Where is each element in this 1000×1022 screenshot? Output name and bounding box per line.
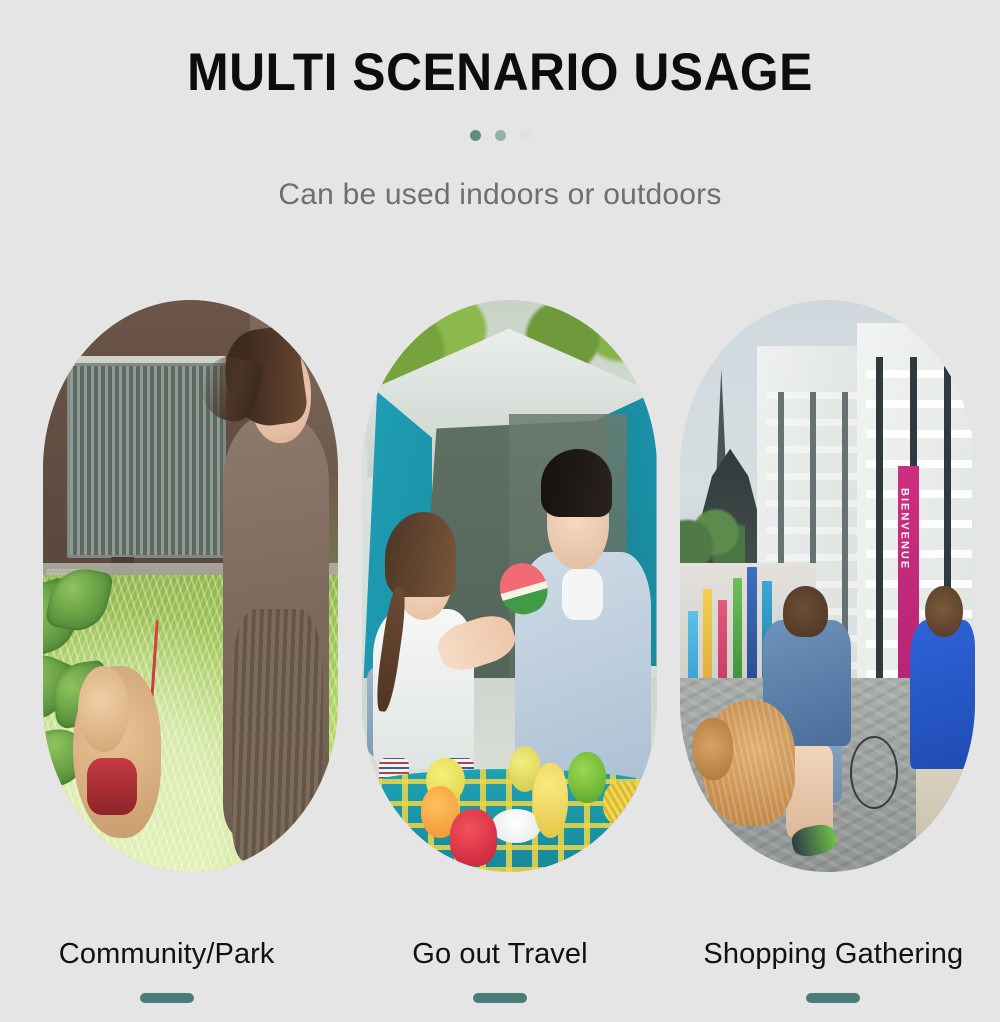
fruit-corn [603,781,644,827]
caption-label-community-park: Community/Park [0,938,333,971]
girl-hair [385,512,456,598]
dot-active[interactable] [470,130,481,141]
man-head [783,586,827,637]
underline-bar-shopping-gathering [806,993,860,1003]
dot-indicator [0,130,1000,141]
pedestrian-head [925,586,963,637]
scenario-panel-community-park[interactable] [43,300,338,872]
scenario-gallery: BIENVENUE [43,300,975,872]
scene-community-park [43,300,338,872]
fruit-pear [533,763,568,837]
girl-overalls [232,609,323,861]
golden-dog-head [692,718,733,781]
promo-page: MULTI SCENARIO USAGE Can be used indoors… [0,0,1000,1022]
caption-cell-community-park: Community/Park [0,938,333,971]
man-white-tee [562,569,603,620]
scenario-panel-go-out-travel[interactable] [362,300,657,872]
caption-label-shopping-gathering: Shopping Gathering [667,938,1000,971]
underline-cell-shopping-gathering [667,993,1000,1003]
fruit-red-pepper [450,809,497,866]
street-flag [747,567,757,680]
girl-sneaker [276,843,314,872]
scenario-panel-shopping-gathering[interactable]: BIENVENUE [680,300,975,872]
street-flag [733,578,743,691]
caption-cell-shopping-gathering: Shopping Gathering [667,938,1000,971]
man-hair [541,449,612,518]
dot-third[interactable] [520,130,531,141]
poodle-harness [87,758,137,815]
underline-bar-go-out-travel [473,993,527,1003]
caption-row: Community/Park Go out Travel Shopping Ga… [0,938,1000,971]
caption-underline-row [0,993,1000,1003]
scene-shopping-gathering: BIENVENUE [680,300,975,872]
pedestrian-blue-hoodie [910,620,975,769]
bienvenue-banner-text: BIENVENUE [898,466,910,570]
underline-cell-community-park [0,993,333,1003]
caption-cell-go-out-travel: Go out Travel [333,938,666,971]
underline-bar-community-park [140,993,194,1003]
dot-second[interactable] [495,130,506,141]
poodle-head [78,666,128,752]
fruit-green-apple [568,752,606,803]
scene-go-out-travel [362,300,657,872]
bicycle-wheel [850,736,898,809]
page-subtitle: Can be used indoors or outdoors [0,178,1000,212]
caption-label-go-out-travel: Go out Travel [333,938,666,971]
page-title: MULTI SCENARIO USAGE [30,44,970,102]
underline-cell-go-out-travel [333,993,666,1003]
